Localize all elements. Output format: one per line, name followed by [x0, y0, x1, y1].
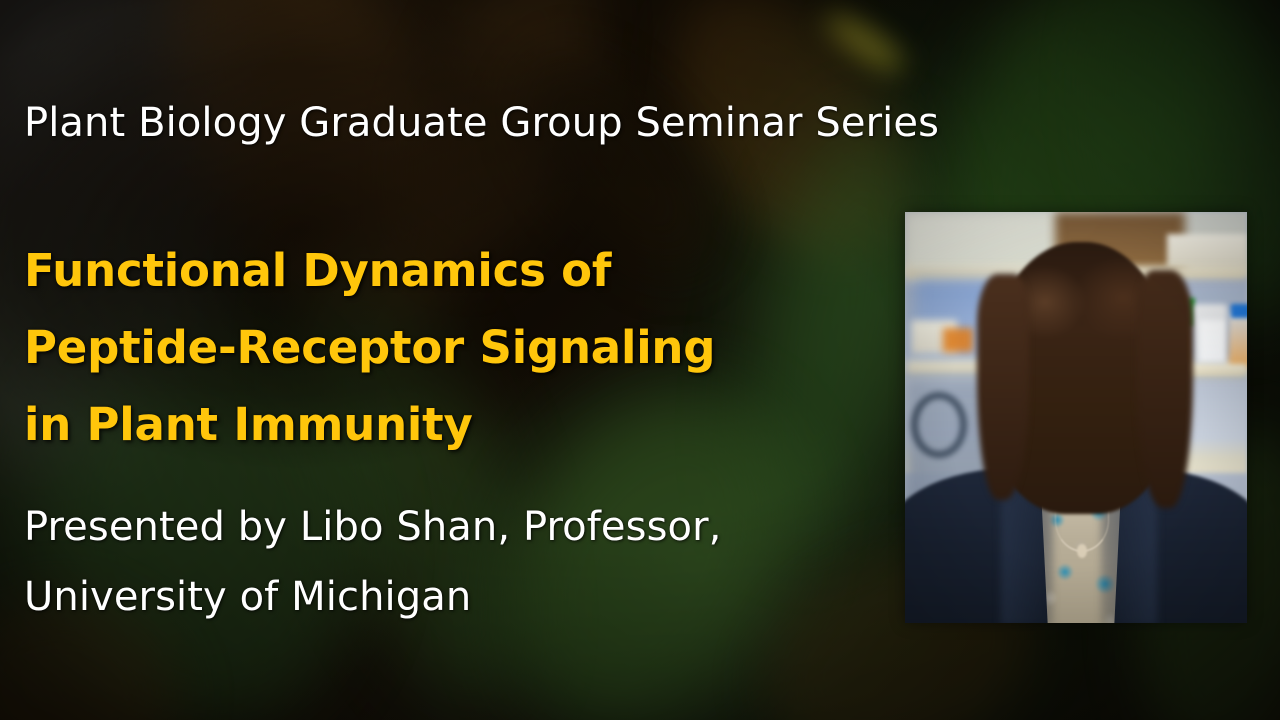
talk-title-line-3: in Plant Immunity: [24, 386, 715, 463]
seminar-announcement-slide: Plant Biology Graduate Group Seminar Ser…: [0, 0, 1280, 720]
speaker-portrait-photo: [905, 212, 1247, 623]
seminar-series-title: Plant Biology Graduate Group Seminar Ser…: [24, 100, 939, 146]
talk-title-line-1: Functional Dynamics of: [24, 232, 715, 309]
slide-text-column: Plant Biology Graduate Group Seminar Ser…: [24, 0, 904, 720]
talk-title-line-2: Peptide-Receptor Signaling: [24, 309, 715, 386]
presenter-name-line: Presented by Libo Shan, Professor,: [24, 492, 721, 562]
portrait-vignette: [905, 212, 1247, 623]
talk-title: Functional Dynamics of Peptide-Receptor …: [24, 232, 715, 463]
presenter-credit: Presented by Libo Shan, Professor, Unive…: [24, 492, 721, 632]
presenter-affiliation-line: University of Michigan: [24, 562, 721, 632]
